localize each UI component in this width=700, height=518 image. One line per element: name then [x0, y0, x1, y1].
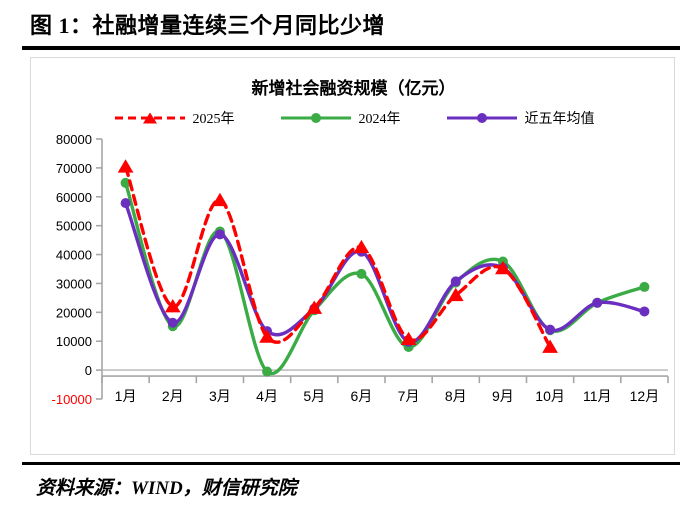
x-axis-tick-label: 4月 [256, 388, 278, 404]
x-axis-tick-label: 8月 [445, 388, 467, 404]
y-axis-tick-label: 20000 [56, 305, 92, 320]
data-point-marker [451, 276, 461, 286]
footer-divider [22, 462, 680, 465]
figure-container: 图 1：社融增量连续三个月同比少增 新增社会融资规模（亿元） 2025年 [0, 0, 700, 518]
y-axis-tick-label: 40000 [56, 248, 92, 263]
data-point-marker [354, 240, 370, 253]
y-axis-tick-label: 70000 [56, 161, 92, 176]
title-divider [22, 46, 680, 50]
series-2025 [118, 159, 558, 353]
x-axis-tick-label: 6月 [351, 388, 373, 404]
x-axis: 1月2月3月4月5月6月7月8月9月10月11月12月 [102, 376, 668, 404]
x-axis-tick-label: 3月 [209, 388, 231, 404]
x-axis-tick-label: 2月 [162, 388, 184, 404]
data-point-marker [121, 198, 131, 208]
series-layer [118, 159, 650, 376]
y-axis-tick-label: 0 [85, 363, 92, 378]
x-axis-tick-label: 11月 [583, 388, 612, 404]
x-axis-tick-label: 10月 [535, 388, 565, 404]
data-point-marker [259, 329, 275, 342]
y-axis-tick-label: 80000 [56, 132, 92, 147]
figure-title: 图 1：社融增量连续三个月同比少增 [30, 8, 385, 40]
data-point-marker [592, 298, 602, 308]
x-axis-tick-label: 1月 [115, 388, 137, 404]
data-point-marker [639, 306, 649, 316]
y-axis-tick-label: 10000 [56, 334, 92, 349]
series-line [126, 203, 645, 342]
x-axis-tick-label: 9月 [492, 388, 514, 404]
series-line [126, 183, 645, 374]
y-axis-tick-label: 60000 [56, 190, 92, 205]
y-axis-tick-label: 30000 [56, 276, 92, 291]
data-point-marker [356, 269, 366, 279]
x-axis-tick-label: 12月 [630, 388, 660, 404]
data-point-marker [212, 193, 228, 206]
series-line [126, 167, 551, 347]
y-axis: 8000070000600005000040000300002000010000… [52, 132, 102, 407]
data-point-marker [118, 159, 134, 172]
y-axis-tick-label: -10000 [52, 392, 92, 407]
x-axis-tick-label: 5月 [303, 388, 325, 404]
plot-area: 8000070000600005000040000300002000010000… [31, 58, 676, 454]
series-2024 [121, 178, 650, 377]
y-axis-tick-label: 50000 [56, 219, 92, 234]
data-point-marker [545, 325, 555, 335]
series-five-year-average [121, 198, 650, 347]
data-point-marker [215, 229, 225, 239]
chart-frame: 新增社会融资规模（亿元） 2025年 2024年 [30, 57, 675, 455]
source-note: 资料来源：WIND，财信研究院 [36, 473, 297, 500]
data-point-marker [168, 318, 178, 328]
data-point-marker [542, 340, 558, 353]
data-point-marker [262, 367, 272, 377]
data-point-marker [639, 282, 649, 292]
x-axis-tick-label: 7月 [398, 388, 420, 404]
